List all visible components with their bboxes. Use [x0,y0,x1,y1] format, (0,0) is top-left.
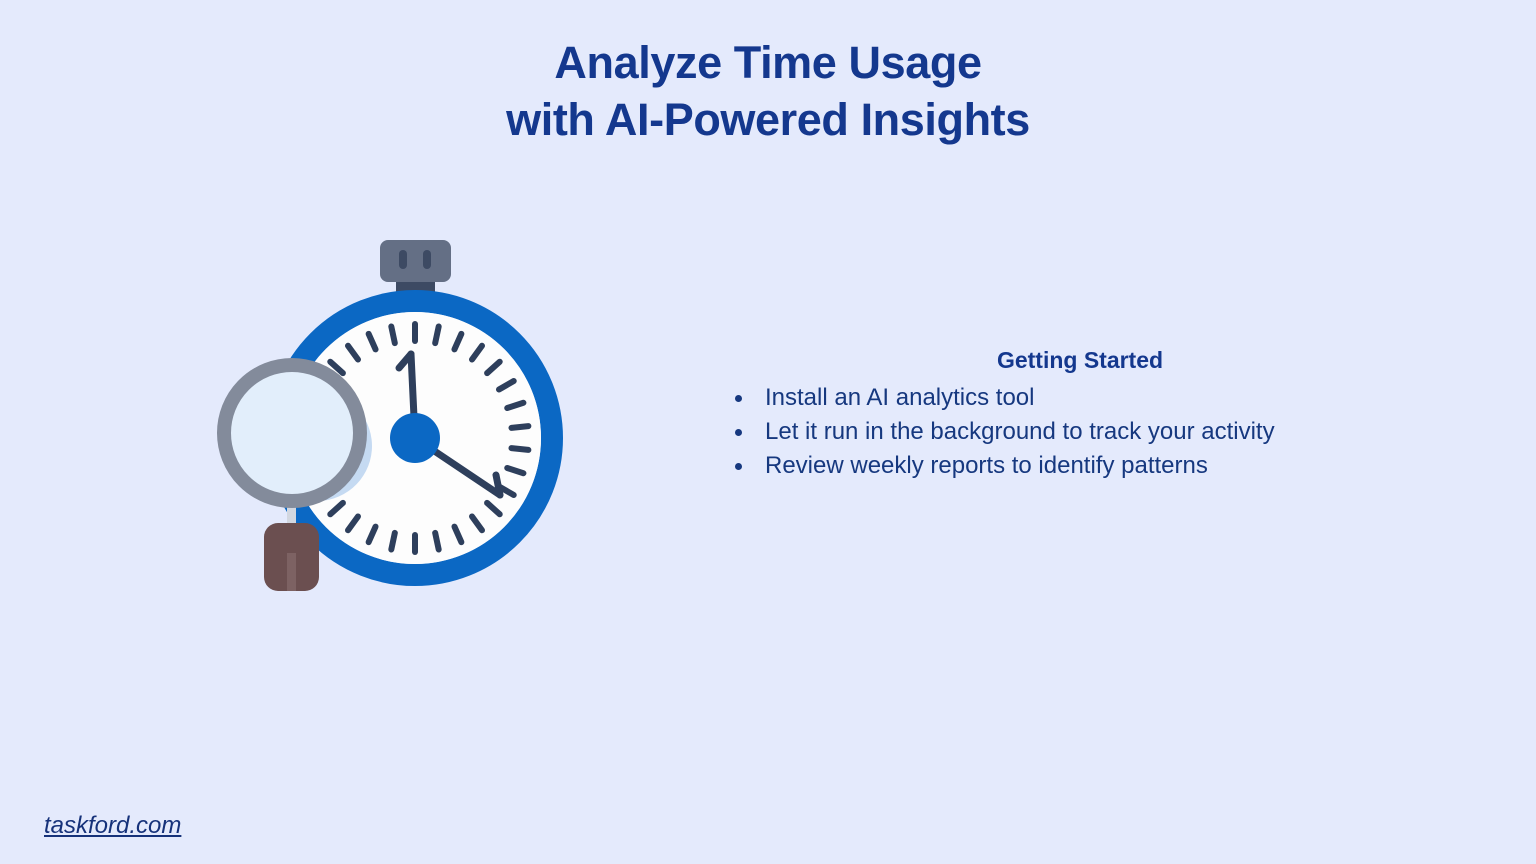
list-item-label: Install an AI analytics tool [765,384,1034,411]
list-item-label: Let it run in the background to track yo… [765,418,1275,445]
stopwatch-center-hub [390,413,440,463]
getting-started-block: Getting Started Install an AI analytics … [700,345,1460,483]
bullet-dot-icon [735,463,742,470]
stopwatch-crown-body [380,240,451,282]
getting-started-list: Install an AI analytics tool Let it run … [700,381,1460,483]
list-item: Install an AI analytics tool [700,381,1460,415]
page-title-line-2: with AI-Powered Insights [0,91,1536,148]
magnifier-handle-stripe [287,553,296,591]
getting-started-heading: Getting Started [700,345,1460,375]
stopwatch-with-magnifier-illustration [208,228,588,608]
list-item: Review weekly reports to identify patter… [700,449,1460,483]
bullet-dot-icon [735,429,742,436]
page-title: Analyze Time Usage with AI-Powered Insig… [0,34,1536,148]
bullet-dot-icon [735,395,742,402]
page-title-line-1: Analyze Time Usage [0,34,1536,91]
list-item: Let it run in the background to track yo… [700,415,1460,449]
stopwatch-crown-slot-left [399,250,407,269]
footer-website-link[interactable]: taskford.com [44,810,181,842]
stopwatch-crown-slot-right [423,250,431,269]
list-item-label: Review weekly reports to identify patter… [765,452,1208,479]
